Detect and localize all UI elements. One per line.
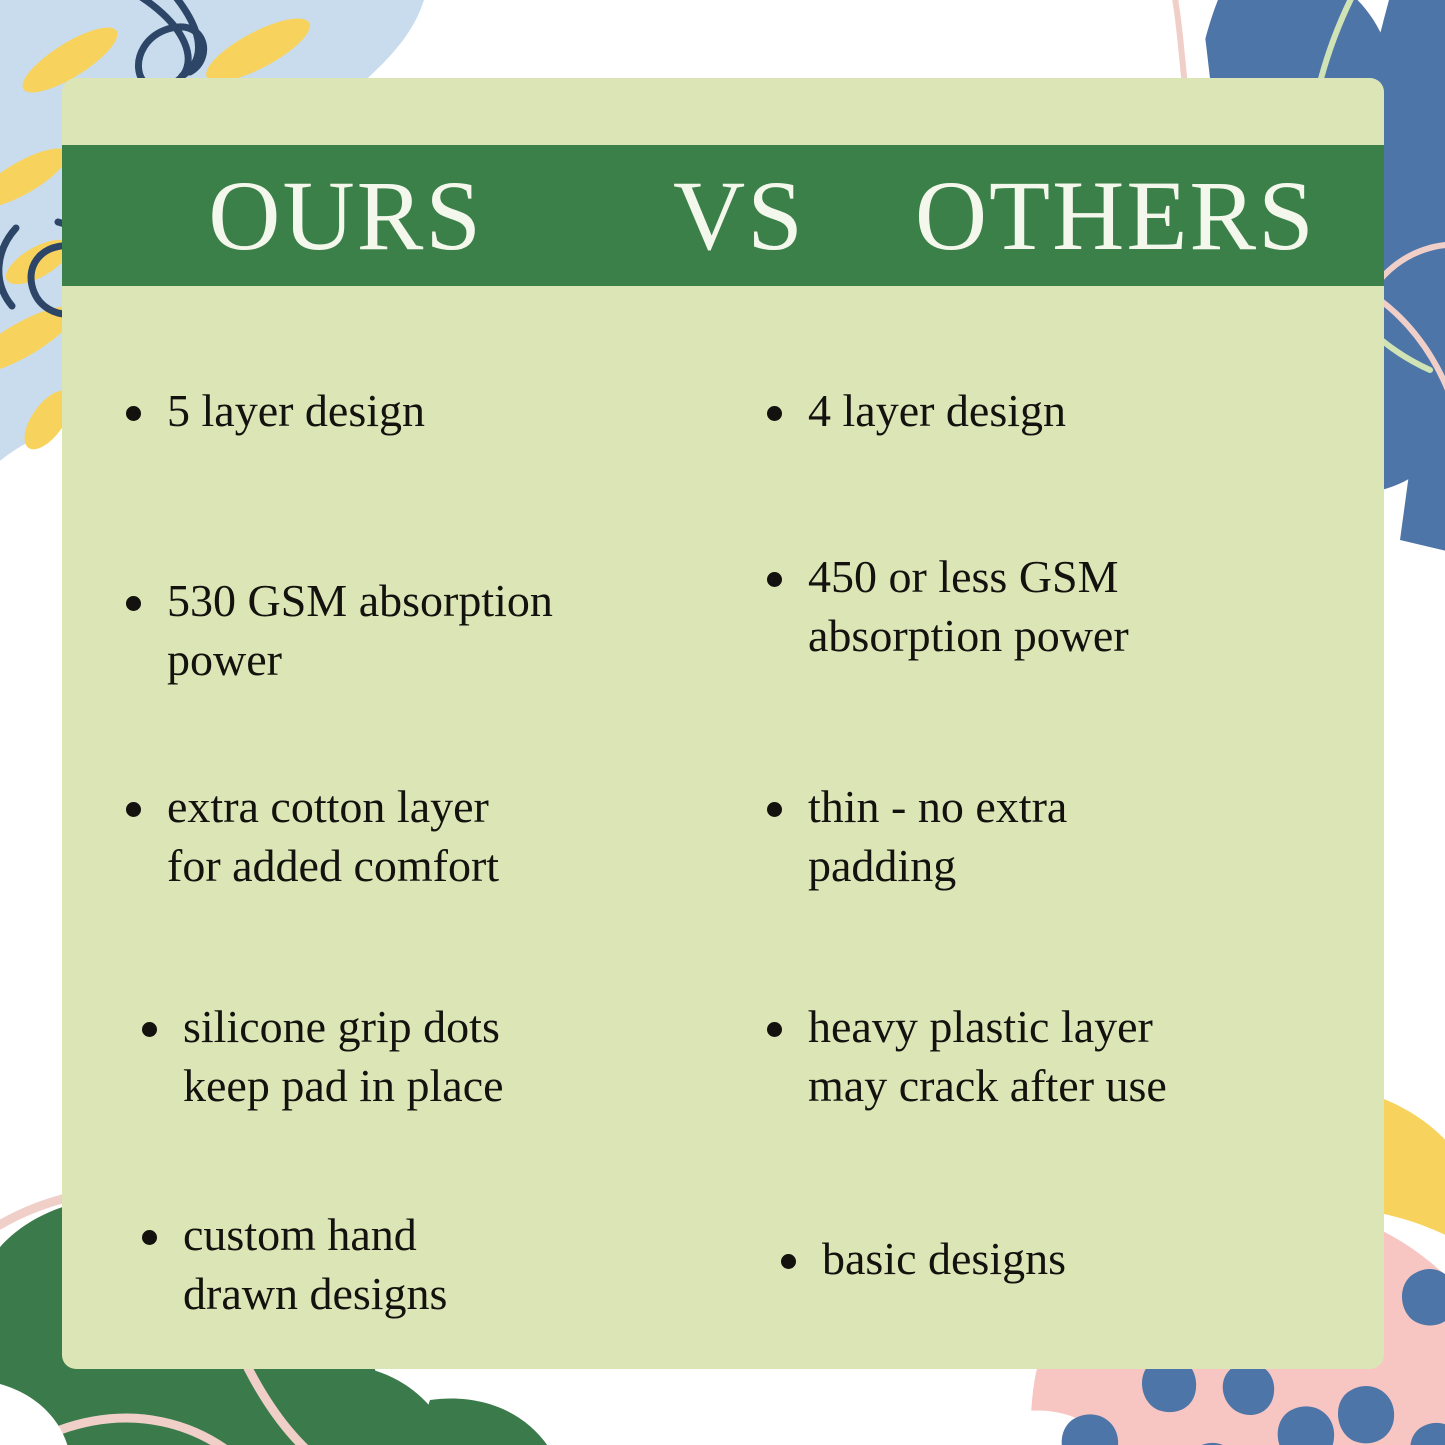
comparison-columns: 5 layer design 530 GSM absorption power … xyxy=(62,300,1384,1369)
bullet-dot-icon xyxy=(767,572,782,587)
ours-item-text: 530 GSM absorption power xyxy=(167,572,553,690)
list-item: thin - no extra padding xyxy=(767,778,1067,896)
list-item: silicone grip dots keep pad in place xyxy=(142,998,504,1116)
list-item: extra cotton layer for added comfort xyxy=(126,778,499,896)
header-others-label: OTHERS xyxy=(915,166,1316,266)
list-item: 4 layer design xyxy=(767,382,1066,441)
ours-item-text: 5 layer design xyxy=(167,382,425,441)
header-ours-label: OURS xyxy=(208,166,483,266)
bullet-dot-icon xyxy=(126,802,141,817)
others-item-text: heavy plastic layer may crack after use xyxy=(808,998,1167,1116)
header-vs-label: VS xyxy=(673,166,805,266)
header-band: OURS VS OTHERS xyxy=(62,145,1384,286)
bullet-dot-icon xyxy=(142,1230,157,1245)
bullet-dot-icon xyxy=(126,406,141,421)
others-item-text: basic designs xyxy=(822,1230,1066,1289)
bullet-dot-icon xyxy=(767,1022,782,1037)
bullet-dot-icon xyxy=(781,1254,796,1269)
header-title-row: OURS VS OTHERS xyxy=(62,166,1384,266)
bullet-dot-icon xyxy=(142,1022,157,1037)
bullet-dot-icon xyxy=(126,596,141,611)
list-item: 450 or less GSM absorption power xyxy=(767,548,1129,666)
infographic-canvas: OURS VS OTHERS 5 layer design 530 GSM ab… xyxy=(0,0,1445,1445)
ours-item-text: silicone grip dots keep pad in place xyxy=(183,998,504,1116)
bullet-dot-icon xyxy=(767,802,782,817)
ours-item-text: extra cotton layer for added comfort xyxy=(167,778,499,896)
others-column: 4 layer design 450 or less GSM absorptio… xyxy=(723,300,1384,1369)
list-item: custom hand drawn designs xyxy=(142,1206,447,1324)
list-item: 5 layer design xyxy=(126,382,425,441)
list-item: basic designs xyxy=(781,1230,1066,1289)
others-item-text: 450 or less GSM absorption power xyxy=(808,548,1129,666)
others-item-text: 4 layer design xyxy=(808,382,1066,441)
list-item: heavy plastic layer may crack after use xyxy=(767,998,1167,1116)
others-item-text: thin - no extra padding xyxy=(808,778,1067,896)
ours-column: 5 layer design 530 GSM absorption power … xyxy=(62,300,723,1369)
bullet-dot-icon xyxy=(767,406,782,421)
ours-item-text: custom hand drawn designs xyxy=(183,1206,447,1324)
list-item: 530 GSM absorption power xyxy=(126,572,553,690)
